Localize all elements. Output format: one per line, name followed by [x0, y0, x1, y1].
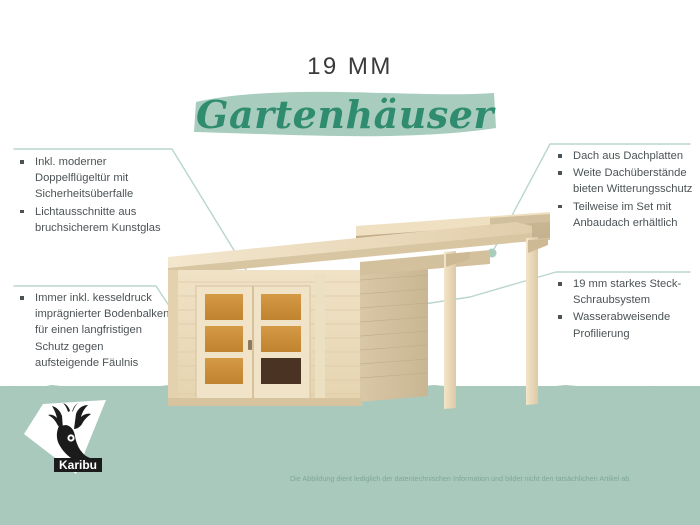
feature-item: Teilweise im Set mit Anbaudach erhältlic…: [556, 199, 700, 231]
feature-list-left-bottom: Immer inkl. kesseldruck imprägnierter Bo…: [18, 290, 170, 372]
feature-item: Immer inkl. kesseldruck imprägnierter Bo…: [18, 290, 170, 371]
canopy-post: [526, 237, 538, 405]
thickness-heading: 19 MM: [0, 53, 700, 81]
door-glass-pane: [261, 326, 301, 352]
left-corner-post: [168, 270, 178, 402]
feature-item: Wasserabweisende Profilierung: [556, 309, 700, 341]
logo-wordmark: Karibu: [59, 458, 97, 472]
feature-list-right-top: Dach aus Dachplatten Weite Dachüberständ…: [556, 148, 700, 232]
door-handle: [248, 340, 252, 350]
feature-item: Lichtausschnitte aus bruchsicherem Kunst…: [18, 204, 170, 236]
disclaimer-text: Die Abbildung dient lediglich der datent…: [290, 474, 690, 484]
door-glass-pane: [261, 358, 301, 384]
feature-list-left-top: Inkl. moderner Doppelflügeltür mit Siche…: [18, 154, 170, 237]
feature-item: 19 mm starkes Steck-Schraubsystem: [556, 276, 700, 308]
door-glass-pane: [205, 358, 243, 384]
title-brush-block: Gartenhäuser: [190, 88, 500, 140]
door-glass-pane: [205, 326, 243, 352]
door-glass-pane: [261, 294, 301, 320]
feature-item: Dach aus Dachplatten: [556, 148, 700, 164]
infographic-canvas: 19 MM Gartenhäuser: [0, 0, 700, 525]
door-trim-board: [315, 274, 325, 402]
product-illustration: [160, 212, 550, 412]
page-title: Gartenhäuser: [190, 88, 500, 140]
deer-pupil: [69, 436, 72, 439]
feature-list-right-bottom: 19 mm starkes Steck-Schraubsystem Wasser…: [556, 276, 700, 343]
door-glass-pane: [205, 294, 243, 320]
feature-item: Weite Dachüberstände bieten Witterungssc…: [556, 165, 700, 197]
base-beam: [168, 398, 362, 406]
brand-logo: Karibu: [18, 398, 114, 480]
feature-item: Inkl. moderner Doppelflügeltür mit Siche…: [18, 154, 170, 203]
canopy-post: [444, 251, 456, 409]
